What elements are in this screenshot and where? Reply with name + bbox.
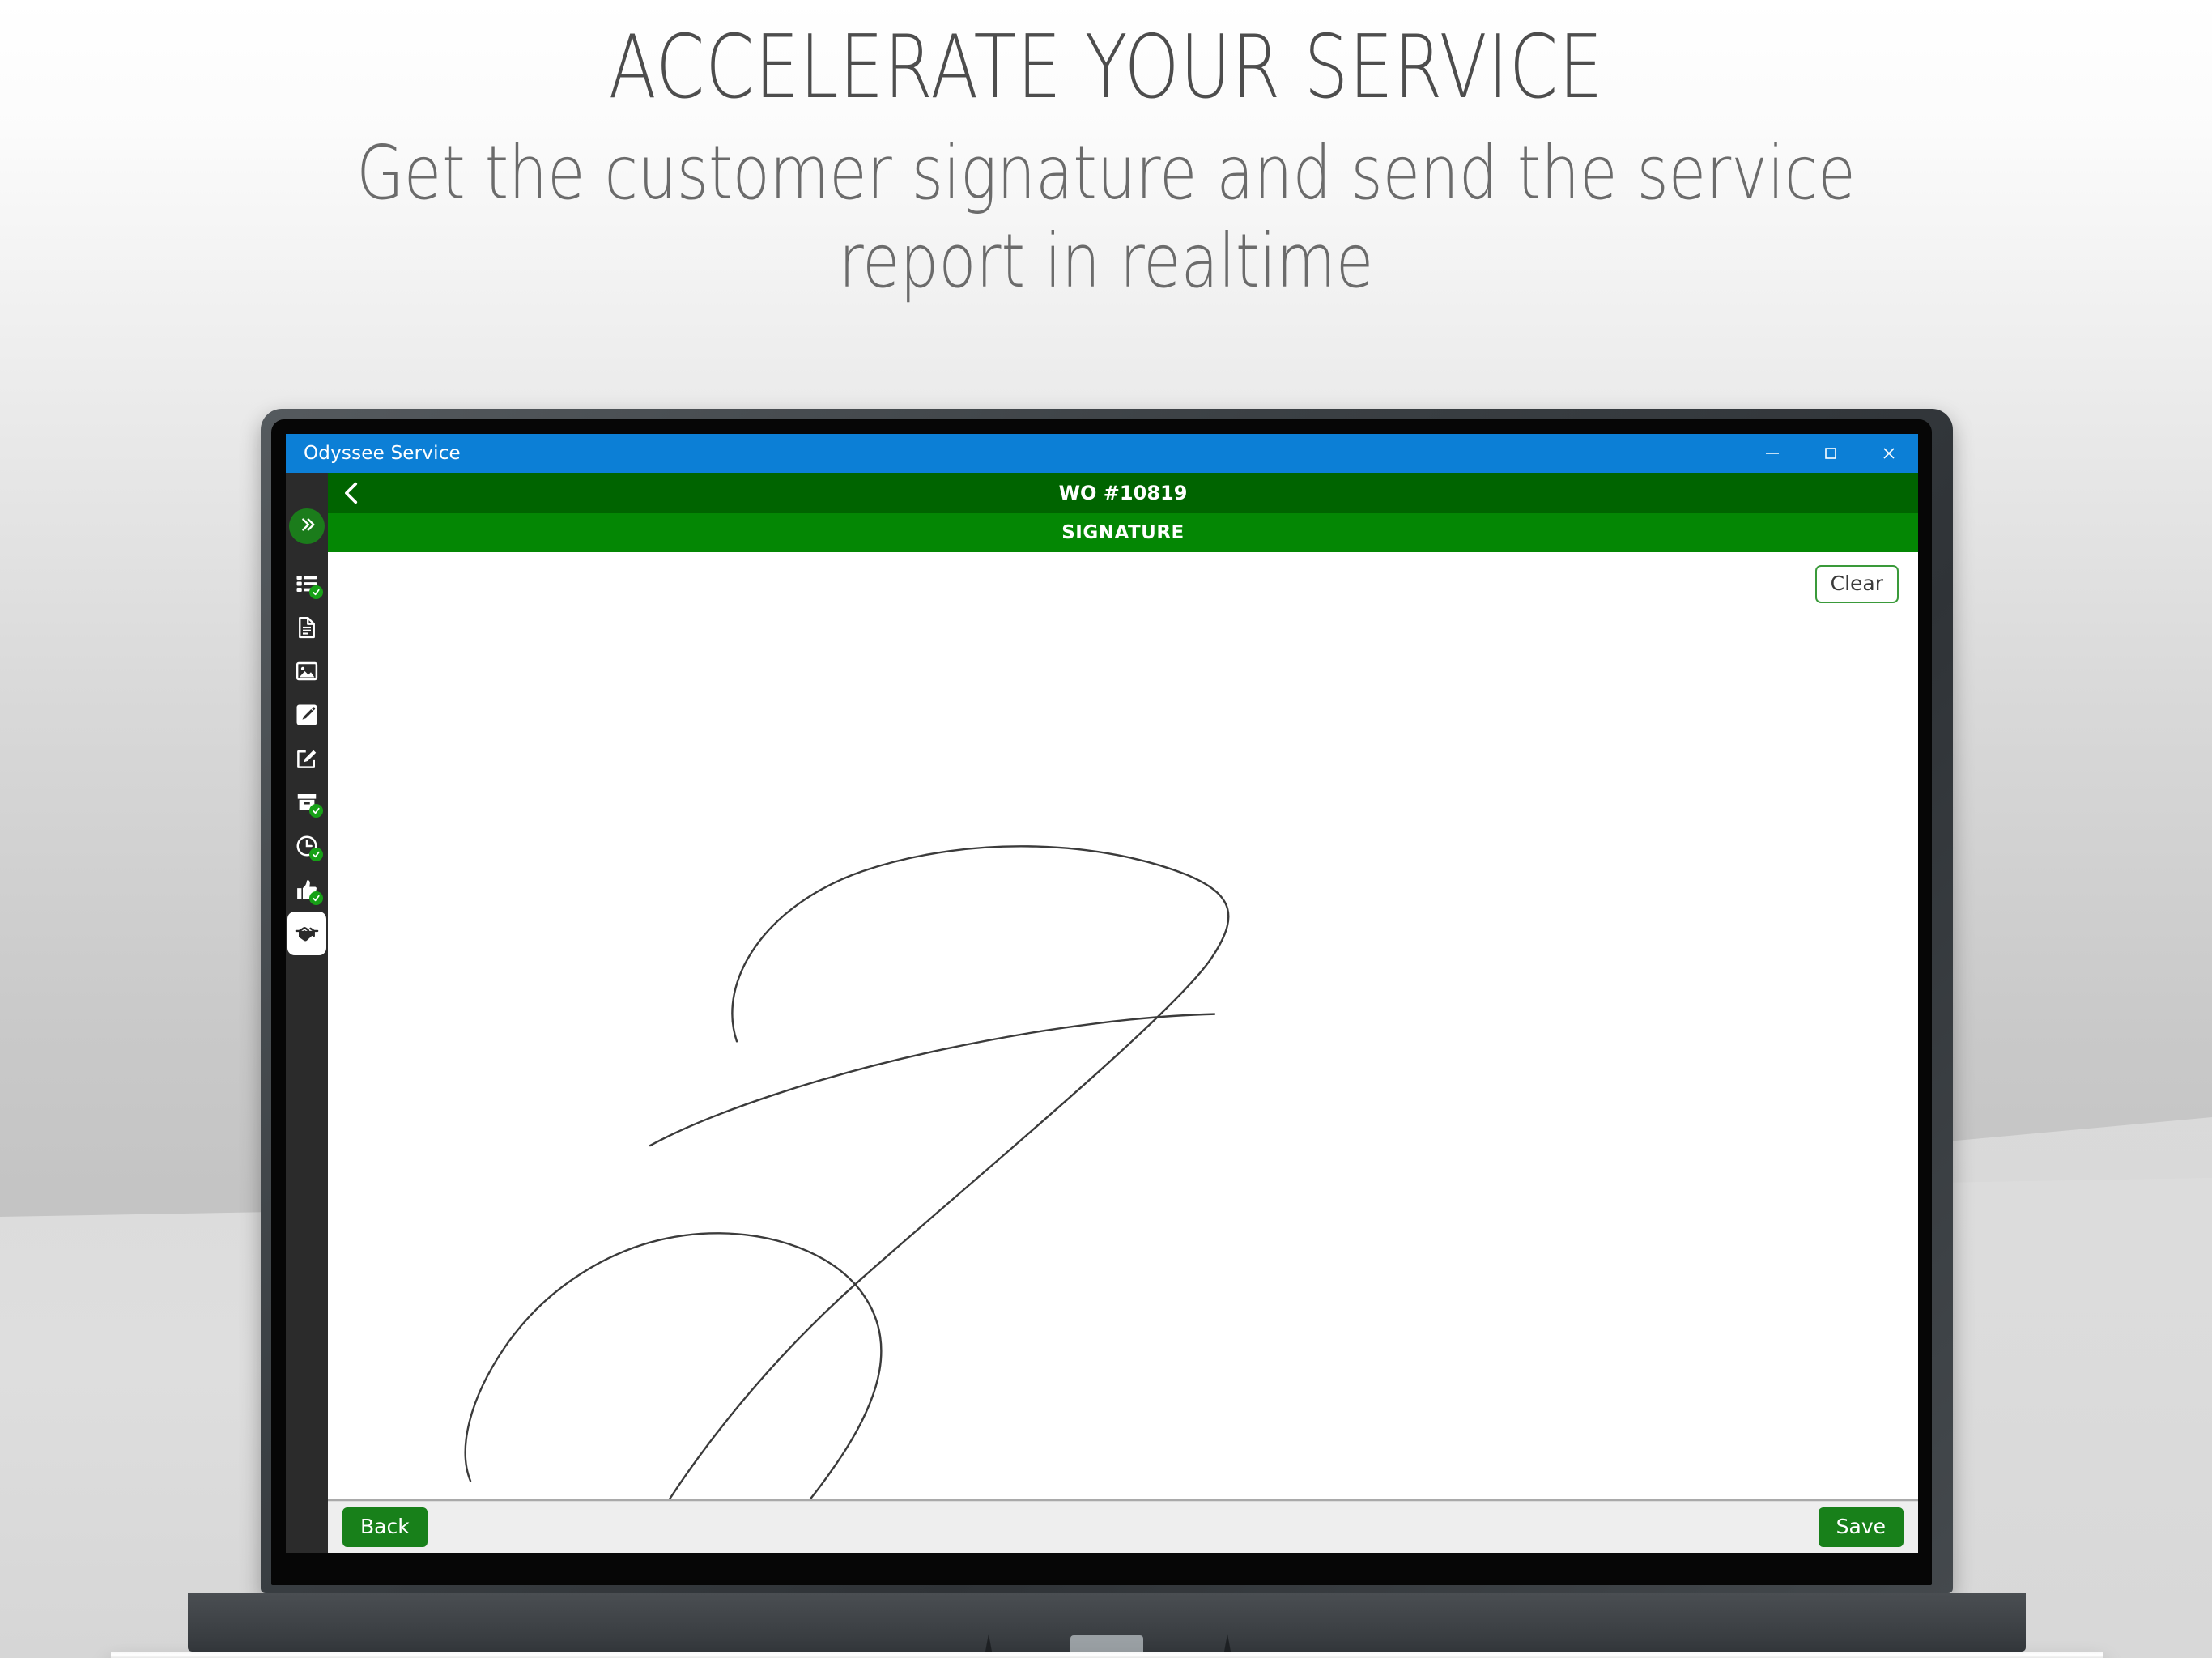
box-icon [295,790,319,814]
footer-bar: Back Save [328,1501,1918,1553]
sidebar-item-checklist[interactable] [287,562,326,606]
check-badge-icon [309,585,323,599]
sidebar-item-time[interactable] [287,824,326,868]
back-button[interactable]: Back [342,1507,428,1547]
promo-headline: ACCELERATE YOUR SERVICE [221,18,1991,118]
promo-text-block: ACCELERATE YOUR SERVICE Get the customer… [0,18,2212,305]
window-titlebar: Odyssee Service [286,434,1918,473]
laptop-base [111,1652,2103,1658]
deck-hinge-right [1224,1634,1231,1652]
work-order-bar: WO #10819 [328,473,1918,513]
pencil-icon [295,703,319,727]
signature-canvas[interactable]: Clear [328,552,1918,1501]
maximize-icon[interactable] [1802,434,1860,473]
edit-square-icon [295,746,319,771]
close-icon[interactable] [1860,434,1918,473]
sidebar-item-notes[interactable] [287,693,326,737]
check-badge-icon [309,848,323,861]
screen-bezel: Odyssee Service [271,419,1932,1585]
thumbs-up-icon [295,878,319,902]
sidebar-expand-button[interactable] [289,508,325,544]
laptop-mockup: Odyssee Service [261,409,1953,1593]
chevron-double-right-icon [298,516,316,538]
handshake-icon [295,921,319,946]
minimize-icon[interactable] [1743,434,1802,473]
sidebar-item-signature[interactable] [287,912,326,955]
sidebar-item-report[interactable] [287,606,326,649]
checklist-icon [295,572,319,596]
main-content: WO #10819 SIGNATURE Clear Back [328,473,1918,1553]
window-title: Odyssee Service [286,443,461,464]
document-icon [295,615,319,640]
section-title-bar: SIGNATURE [328,513,1918,552]
deck-hinge-left [985,1634,992,1652]
clock-icon [295,834,319,858]
image-icon [295,659,319,683]
sidebar-item-photos[interactable] [287,649,326,693]
work-order-number: WO #10819 [1059,482,1188,504]
check-badge-icon [309,891,323,905]
laptop-lid: Odyssee Service [261,409,1953,1593]
sidebar-item-feedback[interactable] [287,868,326,912]
window-controls [1743,434,1918,473]
clear-button[interactable]: Clear [1815,565,1899,603]
trackpad-notch [1070,1635,1143,1652]
promo-subheadline: Get the customer signature and send the … [199,130,2013,305]
sidebar [286,473,328,1553]
signature-drawing [328,552,1918,1499]
app-body: WO #10819 SIGNATURE Clear Back [286,473,1918,1553]
laptop-deck [188,1593,2026,1652]
save-button[interactable]: Save [1819,1507,1904,1547]
section-title: SIGNATURE [1061,522,1185,543]
check-badge-icon [309,804,323,818]
sidebar-item-edit[interactable] [287,737,326,780]
back-chevron-icon[interactable] [328,473,376,513]
app-window: Odyssee Service [286,434,1918,1553]
sidebar-item-materials[interactable] [287,780,326,824]
